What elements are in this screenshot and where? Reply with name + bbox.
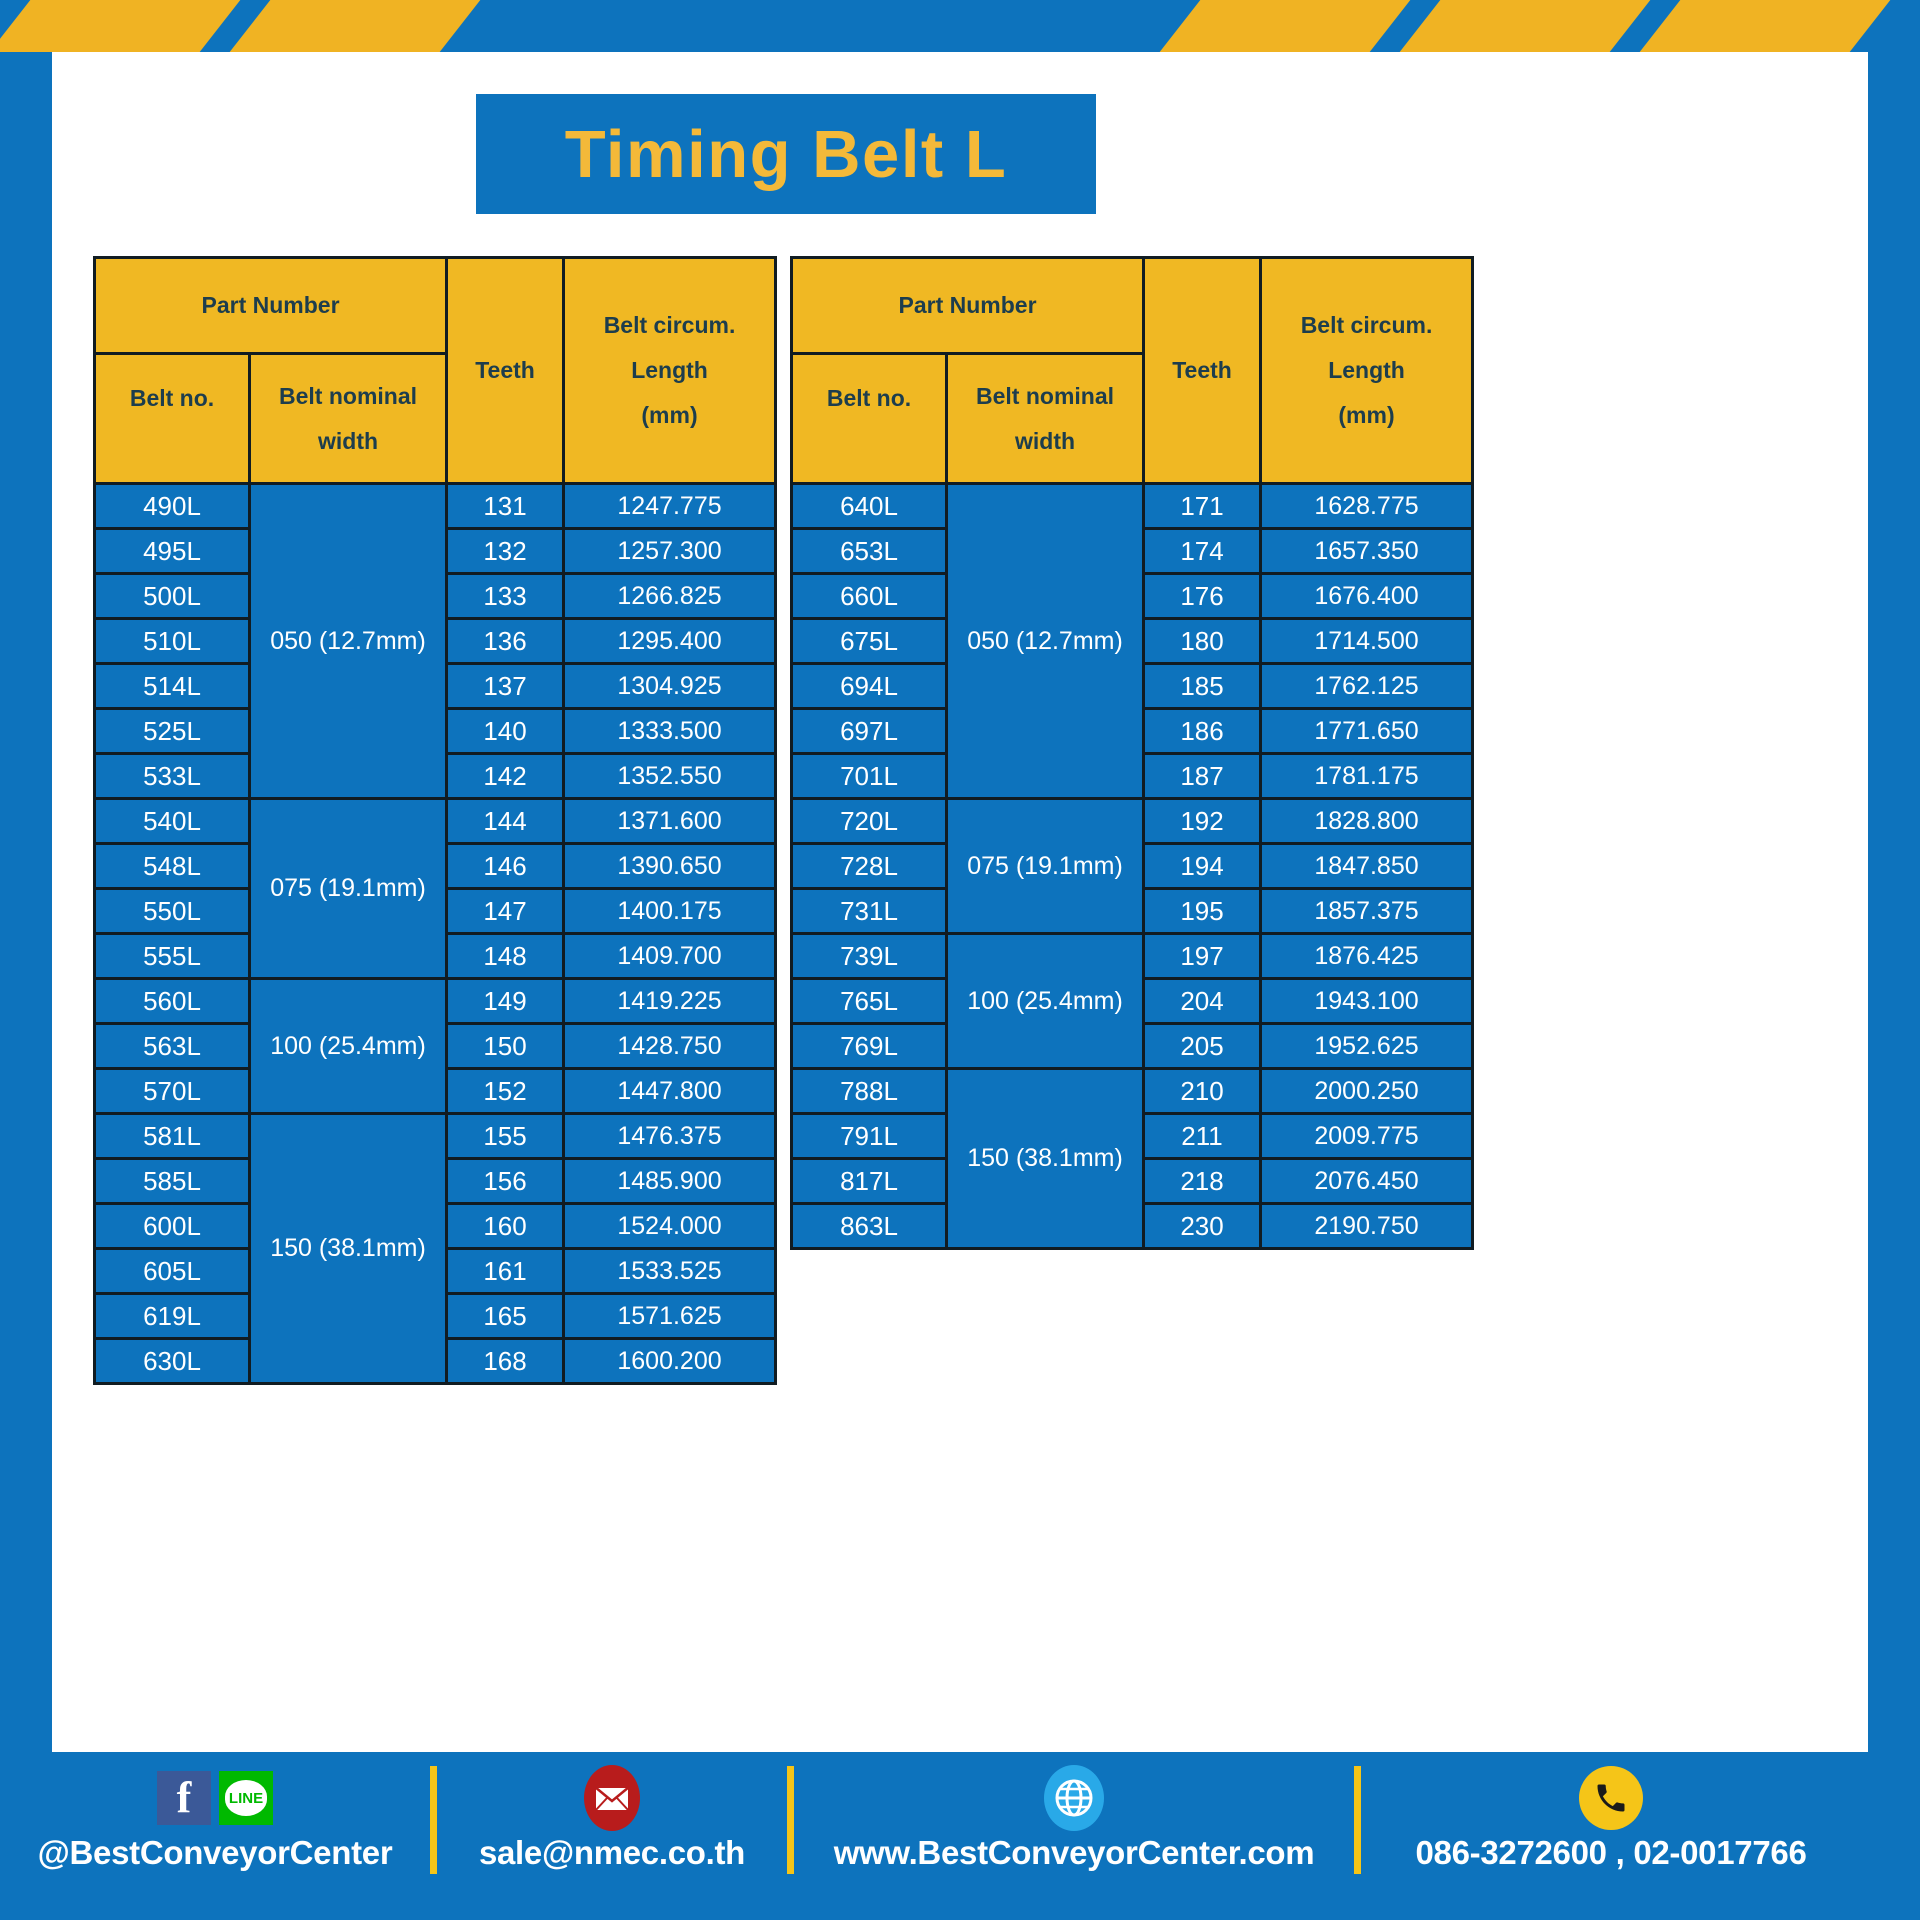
cell-teeth: 149 xyxy=(447,979,564,1024)
footer-divider-2 xyxy=(787,1766,794,1874)
cell-length: 1524.000 xyxy=(564,1204,776,1249)
cell-teeth: 185 xyxy=(1144,664,1261,709)
cell-teeth: 132 xyxy=(447,529,564,574)
phone-glyph xyxy=(1593,1780,1629,1816)
cell-belt-no: 653L xyxy=(792,529,947,574)
cell-belt-no: 788L xyxy=(792,1069,947,1114)
cell-teeth: 230 xyxy=(1144,1204,1261,1249)
cell-belt-no: 533L xyxy=(95,754,250,799)
cell-belt-no: 701L xyxy=(792,754,947,799)
cell-belt-nominal-width: 150 (38.1mm) xyxy=(947,1069,1144,1249)
cell-belt-no: 863L xyxy=(792,1204,947,1249)
email-icon-wrap xyxy=(584,1762,640,1834)
cell-belt-no: 675L xyxy=(792,619,947,664)
cell-length: 1428.750 xyxy=(564,1024,776,1069)
belt-table-right-body: 640L050 (12.7mm)1711628.775653L1741657.3… xyxy=(792,484,1473,1249)
phone-icon-wrap xyxy=(1579,1762,1643,1834)
header-mm: (mm) xyxy=(1264,402,1469,429)
header-belt-circum: Belt circum. Length (mm) xyxy=(564,258,776,484)
cell-belt-nominal-width: 100 (25.4mm) xyxy=(250,979,447,1114)
line-icon[interactable]: LINE xyxy=(219,1771,273,1825)
cell-teeth: 140 xyxy=(447,709,564,754)
footer-divider-3 xyxy=(1354,1766,1361,1874)
cell-teeth: 161 xyxy=(447,1249,564,1294)
cell-belt-nominal-width: 100 (25.4mm) xyxy=(947,934,1144,1069)
cell-belt-no: 600L xyxy=(95,1204,250,1249)
cell-belt-no: 697L xyxy=(792,709,947,754)
cell-length: 1771.650 xyxy=(1261,709,1473,754)
table-row: 720L075 (19.1mm)1921828.800 xyxy=(792,799,1473,844)
cell-teeth: 211 xyxy=(1144,1114,1261,1159)
cell-length: 1533.525 xyxy=(564,1249,776,1294)
header-belt-circum-line1: Belt circum. xyxy=(604,312,736,338)
cell-belt-no: 640L xyxy=(792,484,947,529)
table-row: 560L100 (25.4mm)1491419.225 xyxy=(95,979,776,1024)
envelope-icon xyxy=(594,1784,630,1812)
cell-belt-no: 619L xyxy=(95,1294,250,1339)
line-icon-label: LINE xyxy=(225,1780,267,1816)
cell-length: 1714.500 xyxy=(1261,619,1473,664)
cell-belt-no: 739L xyxy=(792,934,947,979)
cell-teeth: 180 xyxy=(1144,619,1261,664)
footer-website-group[interactable]: www.BestConveyorCenter.com xyxy=(794,1752,1354,1872)
cell-belt-no: 817L xyxy=(792,1159,947,1204)
cell-teeth: 165 xyxy=(447,1294,564,1339)
phone-icon[interactable] xyxy=(1579,1766,1643,1830)
cell-teeth: 136 xyxy=(447,619,564,664)
table-row: 739L100 (25.4mm)1971876.425 xyxy=(792,934,1473,979)
table-row: 581L150 (38.1mm)1551476.375 xyxy=(95,1114,776,1159)
belt-table-left-body: 490L050 (12.7mm)1311247.775495L1321257.3… xyxy=(95,484,776,1384)
email-icon[interactable] xyxy=(584,1765,640,1831)
cell-length: 2000.250 xyxy=(1261,1069,1473,1114)
cell-teeth: 155 xyxy=(447,1114,564,1159)
table-header-row-1: Part Number Teeth Belt circum. Length (m… xyxy=(95,258,776,354)
cell-teeth: 192 xyxy=(1144,799,1261,844)
cell-length: 1257.300 xyxy=(564,529,776,574)
cell-length: 1952.625 xyxy=(1261,1024,1473,1069)
cell-length: 1247.775 xyxy=(564,484,776,529)
email-address: sale@nmec.co.th xyxy=(479,1834,745,1872)
cell-belt-no: 550L xyxy=(95,889,250,934)
header-belt-circum: Belt circum. Length (mm) xyxy=(1261,258,1473,484)
cell-length: 2009.775 xyxy=(1261,1114,1473,1159)
footer-phone-group[interactable]: 086-3272600 , 02-0017766 xyxy=(1361,1752,1861,1872)
cell-length: 1485.900 xyxy=(564,1159,776,1204)
cell-length: 1876.425 xyxy=(1261,934,1473,979)
facebook-icon[interactable]: f xyxy=(157,1771,211,1825)
cell-length: 1943.100 xyxy=(1261,979,1473,1024)
header-belt-nominal-width: Belt nominal width xyxy=(947,354,1144,484)
cell-length: 1762.125 xyxy=(1261,664,1473,709)
footer-divider-1 xyxy=(430,1766,437,1874)
cell-teeth: 150 xyxy=(447,1024,564,1069)
cell-belt-no: 514L xyxy=(95,664,250,709)
cell-belt-no: 791L xyxy=(792,1114,947,1159)
cell-length: 1600.200 xyxy=(564,1339,776,1384)
cell-teeth: 197 xyxy=(1144,934,1261,979)
cell-belt-no: 548L xyxy=(95,844,250,889)
cell-teeth: 186 xyxy=(1144,709,1261,754)
cell-length: 1657.350 xyxy=(1261,529,1473,574)
cell-belt-no: 570L xyxy=(95,1069,250,1114)
table-row: 788L150 (38.1mm)2102000.250 xyxy=(792,1069,1473,1114)
cell-belt-nominal-width: 075 (19.1mm) xyxy=(250,799,447,979)
cell-belt-nominal-width: 150 (38.1mm) xyxy=(250,1114,447,1384)
table-row: 640L050 (12.7mm)1711628.775 xyxy=(792,484,1473,529)
cell-belt-no: 495L xyxy=(95,529,250,574)
cell-teeth: 195 xyxy=(1144,889,1261,934)
header-belt-circum-line1: Belt circum. xyxy=(1301,312,1433,338)
footer-social-group[interactable]: f LINE @BestConveyorCenter xyxy=(0,1752,430,1872)
header-width: width xyxy=(253,428,443,455)
cell-length: 1847.850 xyxy=(1261,844,1473,889)
cell-teeth: 156 xyxy=(447,1159,564,1204)
cell-length: 1333.500 xyxy=(564,709,776,754)
cell-belt-no: 510L xyxy=(95,619,250,664)
globe-icon-wrap xyxy=(1044,1762,1104,1834)
cell-length: 1676.400 xyxy=(1261,574,1473,619)
cell-belt-no: 630L xyxy=(95,1339,250,1384)
cell-teeth: 204 xyxy=(1144,979,1261,1024)
cell-length: 1781.175 xyxy=(1261,754,1473,799)
cell-teeth: 205 xyxy=(1144,1024,1261,1069)
cell-belt-no: 555L xyxy=(95,934,250,979)
cell-teeth: 152 xyxy=(447,1069,564,1114)
header-belt-nominal-width: Belt nominal width xyxy=(250,354,447,484)
cell-belt-no: 731L xyxy=(792,889,947,934)
cell-belt-no: 605L xyxy=(95,1249,250,1294)
cell-length: 1447.800 xyxy=(564,1069,776,1114)
cell-length: 2076.450 xyxy=(1261,1159,1473,1204)
website-url: www.BestConveyorCenter.com xyxy=(834,1834,1315,1872)
cell-length: 1571.625 xyxy=(564,1294,776,1339)
cell-teeth: 171 xyxy=(1144,484,1261,529)
header-part-number: Part Number xyxy=(95,258,447,354)
cell-length: 1352.550 xyxy=(564,754,776,799)
header-belt-no: Belt no. xyxy=(95,354,250,484)
social-icons: f LINE xyxy=(157,1762,273,1834)
cell-teeth: 210 xyxy=(1144,1069,1261,1114)
cell-belt-no: 728L xyxy=(792,844,947,889)
cell-teeth: 176 xyxy=(1144,574,1261,619)
cell-length: 1628.775 xyxy=(1261,484,1473,529)
cell-length: 1295.400 xyxy=(564,619,776,664)
cell-length: 1476.375 xyxy=(564,1114,776,1159)
cell-belt-no: 540L xyxy=(95,799,250,844)
table-row: 490L050 (12.7mm)1311247.775 xyxy=(95,484,776,529)
cell-teeth: 194 xyxy=(1144,844,1261,889)
cell-teeth: 133 xyxy=(447,574,564,619)
cell-length: 1304.925 xyxy=(564,664,776,709)
cell-belt-no: 500L xyxy=(95,574,250,619)
header-belt-no: Belt no. xyxy=(792,354,947,484)
belt-table-right: Part Number Teeth Belt circum. Length (m… xyxy=(790,256,1474,1250)
header-length: Length xyxy=(567,357,772,384)
cell-teeth: 146 xyxy=(447,844,564,889)
globe-icon[interactable] xyxy=(1044,1765,1104,1831)
cell-length: 1390.650 xyxy=(564,844,776,889)
cell-belt-no: 585L xyxy=(95,1159,250,1204)
header-teeth: Teeth xyxy=(447,258,564,484)
cell-teeth: 218 xyxy=(1144,1159,1261,1204)
header-belt-nominal: Belt nominal xyxy=(279,383,417,409)
cell-length: 1419.225 xyxy=(564,979,776,1024)
cell-teeth: 147 xyxy=(447,889,564,934)
header-teeth: Teeth xyxy=(1144,258,1261,484)
table-row: 540L075 (19.1mm)1441371.600 xyxy=(95,799,776,844)
cell-length: 1828.800 xyxy=(1261,799,1473,844)
social-handle: @BestConveyorCenter xyxy=(38,1834,393,1872)
cell-belt-no: 525L xyxy=(95,709,250,754)
header-width: width xyxy=(950,428,1140,455)
header-belt-nominal: Belt nominal xyxy=(976,383,1114,409)
cell-length: 1400.175 xyxy=(564,889,776,934)
phone-numbers: 086-3272600 , 02-0017766 xyxy=(1416,1834,1807,1872)
header-length: Length xyxy=(1264,357,1469,384)
cell-teeth: 144 xyxy=(447,799,564,844)
cell-teeth: 187 xyxy=(1144,754,1261,799)
cell-belt-no: 769L xyxy=(792,1024,947,1069)
cell-teeth: 137 xyxy=(447,664,564,709)
cell-belt-no: 560L xyxy=(95,979,250,1024)
cell-belt-nominal-width: 050 (12.7mm) xyxy=(250,484,447,799)
footer-contact-bar: f LINE @BestConveyorCenter sale@nmec.co.… xyxy=(0,1752,1920,1920)
cell-belt-no: 563L xyxy=(95,1024,250,1069)
cell-length: 2190.750 xyxy=(1261,1204,1473,1249)
header-mm: (mm) xyxy=(567,402,772,429)
cell-teeth: 160 xyxy=(447,1204,564,1249)
cell-belt-no: 581L xyxy=(95,1114,250,1159)
cell-teeth: 142 xyxy=(447,754,564,799)
cell-teeth: 174 xyxy=(1144,529,1261,574)
cell-teeth: 148 xyxy=(447,934,564,979)
cell-belt-no: 694L xyxy=(792,664,947,709)
cell-belt-no: 765L xyxy=(792,979,947,1024)
cell-teeth: 131 xyxy=(447,484,564,529)
cell-belt-nominal-width: 050 (12.7mm) xyxy=(947,484,1144,799)
cell-length: 1371.600 xyxy=(564,799,776,844)
cell-belt-nominal-width: 075 (19.1mm) xyxy=(947,799,1144,934)
cell-length: 1409.700 xyxy=(564,934,776,979)
footer-email-group[interactable]: sale@nmec.co.th xyxy=(437,1752,787,1872)
globe-glyph xyxy=(1052,1776,1096,1820)
cell-belt-no: 490L xyxy=(95,484,250,529)
cell-belt-no: 720L xyxy=(792,799,947,844)
table-header-row-1: Part Number Teeth Belt circum. Length (m… xyxy=(792,258,1473,354)
cell-teeth: 168 xyxy=(447,1339,564,1384)
cell-belt-no: 660L xyxy=(792,574,947,619)
cell-length: 1857.375 xyxy=(1261,889,1473,934)
header-part-number: Part Number xyxy=(792,258,1144,354)
belt-table-left: Part Number Teeth Belt circum. Length (m… xyxy=(93,256,777,1385)
cell-length: 1266.825 xyxy=(564,574,776,619)
